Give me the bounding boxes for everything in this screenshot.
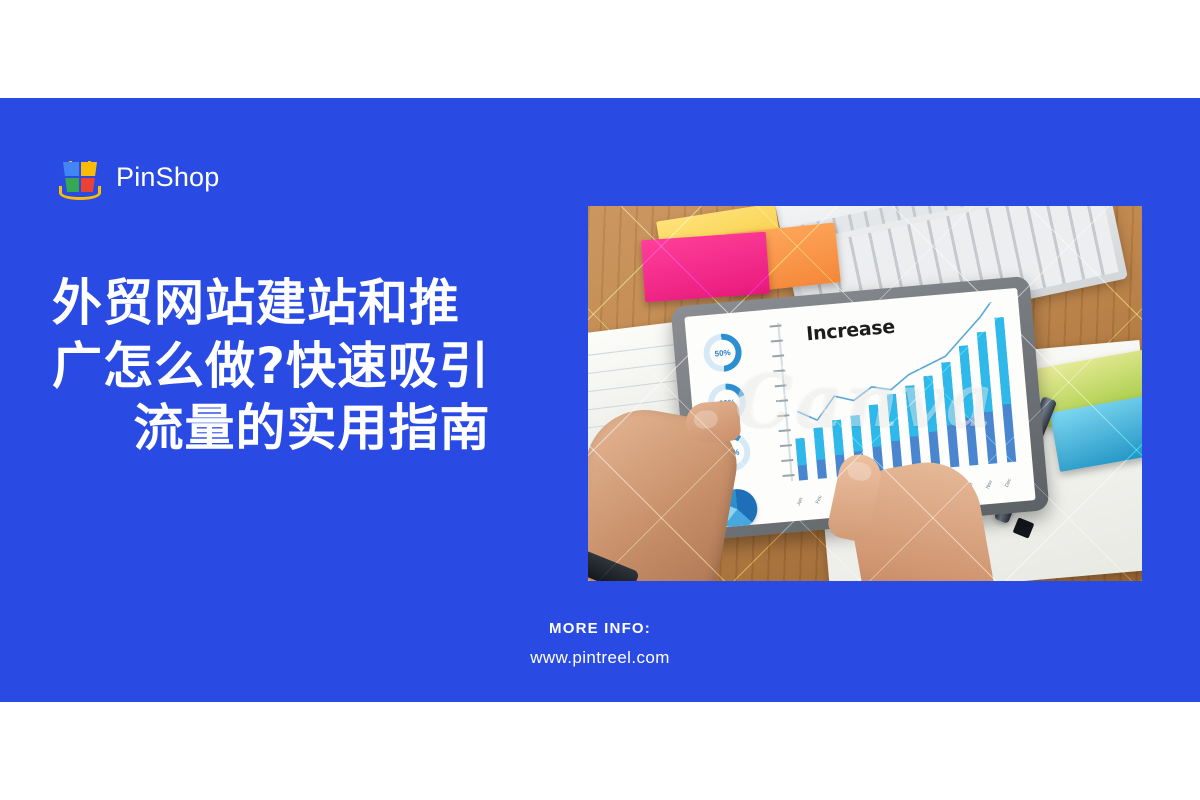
bag-base-arc — [59, 186, 101, 200]
more-info-label: MORE INFO: — [0, 620, 1200, 637]
chart-x-label: Feb — [815, 495, 824, 505]
donut-chart: 50% — [702, 332, 743, 373]
brand-name: PinShop — [116, 164, 219, 191]
headline-line-2: 广怎么做?快速吸引 — [52, 335, 572, 398]
chart-tick — [771, 339, 783, 342]
bag-divider-horizontal — [63, 176, 97, 178]
chart-tick — [780, 444, 792, 447]
trend-line — [781, 300, 1031, 488]
headline-line-1: 外贸网站建站和推 — [52, 272, 572, 335]
chart-tick — [775, 384, 787, 387]
page-title: 外贸网站建站和推 广怎么做?快速吸引 流量的实用指南 — [52, 272, 572, 460]
shopping-bag-icon — [55, 152, 105, 202]
chart-tick — [769, 325, 781, 328]
chart-tick — [773, 369, 785, 372]
left-thumb — [685, 400, 742, 444]
chart-tick — [772, 354, 784, 357]
pink-sticky-note — [641, 232, 770, 303]
chart-tick — [776, 399, 788, 402]
chart-tick — [781, 459, 793, 462]
chart-x-label: Nov — [985, 479, 994, 490]
donut-label: 50% — [714, 348, 731, 358]
chart-tick — [783, 474, 795, 477]
brand-logo-group[interactable]: PinShop — [55, 152, 219, 202]
chart-tick — [779, 429, 791, 432]
chart-x-label: Jan — [796, 497, 805, 507]
bag-quadrant-yellow — [80, 162, 97, 177]
chart-x-label: Dec — [1004, 478, 1013, 489]
poster-canvas: PinShop 外贸网站建站和推 广怎么做?快速吸引 流量的实用指南 MORE … — [0, 0, 1200, 800]
website-url[interactable]: www.pintreel.com — [0, 648, 1200, 668]
headline-line-3: 流量的实用指南 — [52, 397, 572, 460]
hero-photo: Increase 50%20%10% JanFebMarAprMayJunJul… — [588, 206, 1142, 581]
chart-tick — [777, 414, 789, 417]
bag-quadrant-blue — [63, 162, 80, 177]
